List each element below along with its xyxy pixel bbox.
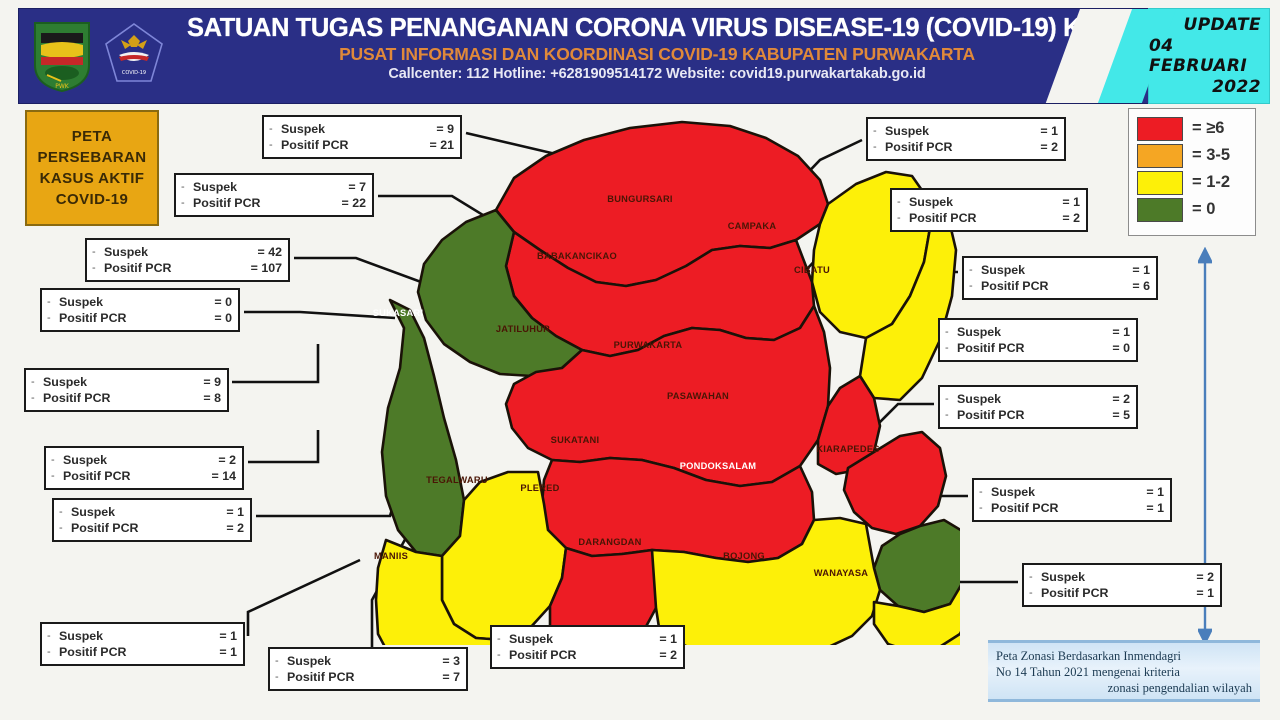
- bullet-dash: -: [51, 468, 63, 484]
- page-title-line1: PETA: [72, 127, 113, 147]
- c-babakancikao-suspek-value: = 7: [348, 179, 366, 195]
- c-darangdan-positif-value: = 7: [442, 669, 460, 685]
- c-pasawahan-positif-label: Positif PCR: [981, 278, 1048, 294]
- header-title: SATUAN TUGAS PENANGANAN CORONA VIRUS DIS…: [187, 13, 1127, 43]
- satgas-covid19-logo-icon: COVID-19: [103, 21, 165, 91]
- update-year: 2022: [1212, 77, 1261, 97]
- c-bojong-suspek-label: Suspek: [991, 484, 1035, 500]
- c-plered-positif-value: = 2: [226, 520, 244, 536]
- page-title: PETA PERSEBARAN KASUS AKTIF COVID-19: [25, 110, 159, 226]
- c-plered-positif-label: Positif PCR: [71, 520, 138, 536]
- bullet-dash: -: [945, 407, 957, 423]
- bullet-dash: -: [897, 194, 909, 210]
- c-bojong-positif-row: -Positif PCR= 1: [979, 500, 1164, 516]
- legend-swatch-0: [1137, 117, 1183, 141]
- c-tegalwaru-suspek-row: -Suspek= 2: [51, 452, 236, 468]
- bullet-dash: -: [59, 504, 71, 520]
- c-campaka-suspek-label: Suspek: [885, 123, 929, 139]
- bullet-dash: -: [275, 669, 287, 685]
- c-purwakarta-positif-label: Positif PCR: [509, 647, 576, 663]
- c-babakancikao-positif-label: Positif PCR: [193, 195, 260, 211]
- svg-text:COVID-19: COVID-19: [122, 70, 146, 76]
- bullet-dash: -: [969, 278, 981, 294]
- bullet-dash: -: [945, 340, 957, 356]
- c-sukatani-positif-label: Positif PCR: [59, 644, 126, 660]
- bullet-dash: -: [269, 121, 281, 137]
- c-jatiluhur-suspek-value: = 42: [258, 244, 282, 260]
- c-pondoksalam: -Suspek= 1-Positif PCR= 0: [938, 318, 1138, 362]
- bullet-dash: -: [269, 137, 281, 153]
- c-pasawahan: -Suspek= 1-Positif PCR= 6: [962, 256, 1158, 300]
- c-sukatani-positif-row: -Positif PCR= 1: [47, 644, 237, 660]
- c-cibatu-positif-label: Positif PCR: [909, 210, 976, 226]
- purwakarta-regency-emblem-icon: PWK: [31, 19, 93, 93]
- c-kiarapedes-suspek-row: -Suspek= 2: [945, 391, 1130, 407]
- c-bojong-positif-value: = 1: [1146, 500, 1164, 516]
- c-cibatu-suspek-label: Suspek: [909, 194, 953, 210]
- c-pasawahan-positif-value: = 6: [1132, 278, 1150, 294]
- c-sukasari: -Suspek= 0-Positif PCR= 0: [40, 288, 240, 332]
- legend-label-2: = 1-2: [1192, 173, 1230, 192]
- legend-swatch-2: [1137, 171, 1183, 195]
- update-date-badge: UPDATE 04 FEBRUARI 2022: [1148, 8, 1270, 104]
- c-bojong: -Suspek= 1-Positif PCR= 1: [972, 478, 1172, 522]
- header-subtitle: PUSAT INFORMASI DAN KOORDINASI COVID-19 …: [187, 43, 1127, 65]
- c-purwakarta-suspek-label: Suspek: [509, 631, 553, 647]
- c-pasawahan-suspek-row: -Suspek= 1: [969, 262, 1150, 278]
- page-title-line3: KASUS AKTIF: [40, 169, 145, 189]
- bullet-dash: -: [47, 310, 59, 326]
- c-maniis-positif-row: -Positif PCR= 8: [31, 390, 221, 406]
- c-campaka-suspek-value: = 1: [1040, 123, 1058, 139]
- footnote-line3: zonasi pengendalian wilayah: [996, 680, 1252, 696]
- c-sukasari-positif-row: -Positif PCR= 0: [47, 310, 232, 326]
- c-darangdan-positif-row: -Positif PCR= 7: [275, 669, 460, 685]
- footnote-line2: No 14 Tahun 2021 mengenai kriteria: [996, 664, 1252, 680]
- c-jatiluhur: -Suspek= 42-Positif PCR= 107: [85, 238, 290, 282]
- c-campaka-positif-row: -Positif PCR= 2: [873, 139, 1058, 155]
- c-bungursari-positif-label: Positif PCR: [281, 137, 348, 153]
- bullet-dash: -: [92, 244, 104, 260]
- c-bungursari-suspek-label: Suspek: [281, 121, 325, 137]
- c-kiarapedes: -Suspek= 2-Positif PCR= 5: [938, 385, 1138, 429]
- bullet-dash: -: [31, 390, 43, 406]
- c-pondoksalam-suspek-value: = 1: [1112, 324, 1130, 340]
- c-plered-suspek-row: -Suspek= 1: [59, 504, 244, 520]
- c-sukatani: -Suspek= 1-Positif PCR= 1: [40, 622, 245, 666]
- c-bojong-suspek-row: -Suspek= 1: [979, 484, 1164, 500]
- legend-label-3: = 0: [1192, 200, 1215, 219]
- c-bojong-suspek-value: = 1: [1146, 484, 1164, 500]
- c-wanayasa-positif-label: Positif PCR: [1041, 585, 1108, 601]
- purwakarta-zone-map: BUNGURSARIBABAKANCIKAOJATILUHURSUKASARIM…: [300, 100, 960, 645]
- c-plered-suspek-value: = 1: [226, 504, 244, 520]
- c-jatiluhur-positif-label: Positif PCR: [104, 260, 171, 276]
- c-maniis: -Suspek= 9-Positif PCR= 8: [24, 368, 229, 412]
- header-logos: PWK COVID-19: [31, 16, 181, 96]
- c-sukasari-positif-value: = 0: [214, 310, 232, 326]
- c-campaka-suspek-row: -Suspek= 1: [873, 123, 1058, 139]
- svg-text:PWK: PWK: [55, 83, 70, 90]
- c-bungursari-suspek-row: -Suspek= 9: [269, 121, 454, 137]
- c-campaka-positif-label: Positif PCR: [885, 139, 952, 155]
- c-maniis-suspek-value: = 9: [203, 374, 221, 390]
- c-pasawahan-suspek-value: = 1: [1132, 262, 1150, 278]
- bullet-dash: -: [945, 391, 957, 407]
- c-plered: -Suspek= 1-Positif PCR= 2: [52, 498, 252, 542]
- c-darangdan-suspek-value: = 3: [442, 653, 460, 669]
- bullet-dash: -: [497, 647, 509, 663]
- c-purwakarta-positif-row: -Positif PCR= 2: [497, 647, 677, 663]
- c-sukatani-positif-value: = 1: [219, 644, 237, 660]
- c-cibatu-positif-row: -Positif PCR= 2: [897, 210, 1080, 226]
- c-bojong-positif-label: Positif PCR: [991, 500, 1058, 516]
- c-pondoksalam-suspek-label: Suspek: [957, 324, 1001, 340]
- c-maniis-positif-label: Positif PCR: [43, 390, 110, 406]
- c-sukasari-suspek-value: = 0: [214, 294, 232, 310]
- legend-row-3: = 0: [1137, 196, 1247, 223]
- c-pasawahan-suspek-label: Suspek: [981, 262, 1025, 278]
- c-maniis-positif-value: = 8: [203, 390, 221, 406]
- c-bungursari-positif-row: -Positif PCR= 21: [269, 137, 454, 153]
- legend-swatch-1: [1137, 144, 1183, 168]
- c-wanayasa: -Suspek= 2-Positif PCR= 1: [1022, 563, 1222, 607]
- bullet-dash: -: [275, 653, 287, 669]
- c-jatiluhur-positif-row: -Positif PCR= 107: [92, 260, 282, 276]
- c-pondoksalam-positif-row: -Positif PCR= 0: [945, 340, 1130, 356]
- region-pondoksalam: [874, 520, 960, 612]
- legend-row-0: = ≥6: [1137, 115, 1247, 142]
- c-bungursari: -Suspek= 9-Positif PCR= 21: [262, 115, 462, 159]
- c-sukatani-suspek-value: = 1: [219, 628, 237, 644]
- c-darangdan-suspek-label: Suspek: [287, 653, 331, 669]
- c-tegalwaru-positif-value: = 14: [212, 468, 236, 484]
- bullet-dash: -: [897, 210, 909, 226]
- c-bungursari-positif-value: = 21: [430, 137, 454, 153]
- c-maniis-suspek-row: -Suspek= 9: [31, 374, 221, 390]
- c-pondoksalam-positif-label: Positif PCR: [957, 340, 1024, 356]
- zonation-footnote: Peta Zonasi Berdasarkan Inmendagri No 14…: [988, 640, 1260, 702]
- c-plered-positif-row: -Positif PCR= 2: [59, 520, 244, 536]
- c-wanayasa-suspek-row: -Suspek= 2: [1029, 569, 1214, 585]
- bullet-dash: -: [59, 520, 71, 536]
- c-wanayasa-positif-row: -Positif PCR= 1: [1029, 585, 1214, 601]
- c-pasawahan-positif-row: -Positif PCR= 6: [969, 278, 1150, 294]
- c-plered-suspek-label: Suspek: [71, 504, 115, 520]
- c-sukasari-suspek-label: Suspek: [59, 294, 103, 310]
- map-svg: [300, 100, 960, 645]
- c-cibatu-suspek-row: -Suspek= 1: [897, 194, 1080, 210]
- legend-swatch-3: [1137, 198, 1183, 222]
- c-sukatani-suspek-row: -Suspek= 1: [47, 628, 237, 644]
- bullet-dash: -: [979, 484, 991, 500]
- update-label: UPDATE: [1183, 15, 1261, 35]
- c-babakancikao-suspek-label: Suspek: [193, 179, 237, 195]
- c-cibatu: -Suspek= 1-Positif PCR= 2: [890, 188, 1088, 232]
- legend-row-1: = 3-5: [1137, 142, 1247, 169]
- c-jatiluhur-suspek-row: -Suspek= 42: [92, 244, 282, 260]
- c-darangdan-suspek-row: -Suspek= 3: [275, 653, 460, 669]
- c-kiarapedes-positif-label: Positif PCR: [957, 407, 1024, 423]
- bullet-dash: -: [47, 644, 59, 660]
- header-contact: Callcenter: 112 Hotline: +6281909514172 …: [187, 65, 1127, 84]
- c-tegalwaru-positif-row: -Positif PCR= 14: [51, 468, 236, 484]
- c-pondoksalam-positif-value: = 0: [1112, 340, 1130, 356]
- c-sukasari-positif-label: Positif PCR: [59, 310, 126, 326]
- bullet-dash: -: [31, 374, 43, 390]
- c-cibatu-suspek-value: = 1: [1062, 194, 1080, 210]
- c-darangdan-positif-label: Positif PCR: [287, 669, 354, 685]
- update-date: 04 FEBRUARI: [1149, 36, 1261, 76]
- bullet-dash: -: [873, 123, 885, 139]
- bullet-dash: -: [47, 628, 59, 644]
- bullet-dash: -: [945, 324, 957, 340]
- c-kiarapedes-suspek-label: Suspek: [957, 391, 1001, 407]
- infographic-root: PWK COVID-19 SATUAN TUGAS PENANGANAN COR…: [0, 0, 1280, 720]
- legend-label-0: = ≥6: [1192, 119, 1224, 138]
- c-cibatu-positif-value: = 2: [1062, 210, 1080, 226]
- c-maniis-suspek-label: Suspek: [43, 374, 87, 390]
- bullet-dash: -: [181, 179, 193, 195]
- c-kiarapedes-positif-value: = 5: [1112, 407, 1130, 423]
- c-kiarapedes-suspek-value: = 2: [1112, 391, 1130, 407]
- c-bungursari-suspek-value: = 9: [436, 121, 454, 137]
- c-jatiluhur-positif-value: = 107: [251, 260, 282, 276]
- header-text-block: SATUAN TUGAS PENANGANAN CORONA VIRUS DIS…: [187, 13, 1127, 84]
- c-babakancikao-positif-row: -Positif PCR= 22: [181, 195, 366, 211]
- c-wanayasa-positif-value: = 1: [1196, 585, 1214, 601]
- c-purwakarta-suspek-row: -Suspek= 1: [497, 631, 677, 647]
- footnote-line1: Peta Zonasi Berdasarkan Inmendagri: [996, 648, 1252, 664]
- c-pondoksalam-suspek-row: -Suspek= 1: [945, 324, 1130, 340]
- bullet-dash: -: [979, 500, 991, 516]
- c-darangdan: -Suspek= 3-Positif PCR= 7: [268, 647, 468, 691]
- c-jatiluhur-suspek-label: Suspek: [104, 244, 148, 260]
- c-tegalwaru-suspek-value: = 2: [218, 452, 236, 468]
- c-purwakarta-positif-value: = 2: [659, 647, 677, 663]
- c-tegalwaru-positif-label: Positif PCR: [63, 468, 130, 484]
- bullet-dash: -: [92, 260, 104, 276]
- c-tegalwaru: -Suspek= 2-Positif PCR= 14: [44, 446, 244, 490]
- c-sukatani-suspek-label: Suspek: [59, 628, 103, 644]
- bullet-dash: -: [873, 139, 885, 155]
- bullet-dash: -: [181, 195, 193, 211]
- bullet-dash: -: [497, 631, 509, 647]
- page-title-line4: COVID-19: [56, 190, 128, 210]
- c-babakancikao-positif-value: = 22: [342, 195, 366, 211]
- bullet-dash: -: [969, 262, 981, 278]
- c-campaka-positif-value: = 2: [1040, 139, 1058, 155]
- c-purwakarta-suspek-value: = 1: [659, 631, 677, 647]
- bullet-dash: -: [51, 452, 63, 468]
- c-kiarapedes-positif-row: -Positif PCR= 5: [945, 407, 1130, 423]
- c-campaka: -Suspek= 1-Positif PCR= 2: [866, 117, 1066, 161]
- zone-legend: = ≥6= 3-5= 1-2= 0: [1128, 108, 1256, 236]
- page-header: PWK COVID-19 SATUAN TUGAS PENANGANAN COR…: [18, 8, 1150, 104]
- bullet-dash: -: [47, 294, 59, 310]
- legend-label-1: = 3-5: [1192, 146, 1230, 165]
- bullet-dash: -: [1029, 585, 1041, 601]
- page-title-line2: PERSEBARAN: [37, 148, 146, 168]
- c-babakancikao-suspek-row: -Suspek= 7: [181, 179, 366, 195]
- c-tegalwaru-suspek-label: Suspek: [63, 452, 107, 468]
- bullet-dash: -: [1029, 569, 1041, 585]
- legend-row-2: = 1-2: [1137, 169, 1247, 196]
- c-wanayasa-suspek-value: = 2: [1196, 569, 1214, 585]
- c-wanayasa-suspek-label: Suspek: [1041, 569, 1085, 585]
- c-babakancikao: -Suspek= 7-Positif PCR= 22: [174, 173, 374, 217]
- c-purwakarta: -Suspek= 1-Positif PCR= 2: [490, 625, 685, 669]
- c-sukasari-suspek-row: -Suspek= 0: [47, 294, 232, 310]
